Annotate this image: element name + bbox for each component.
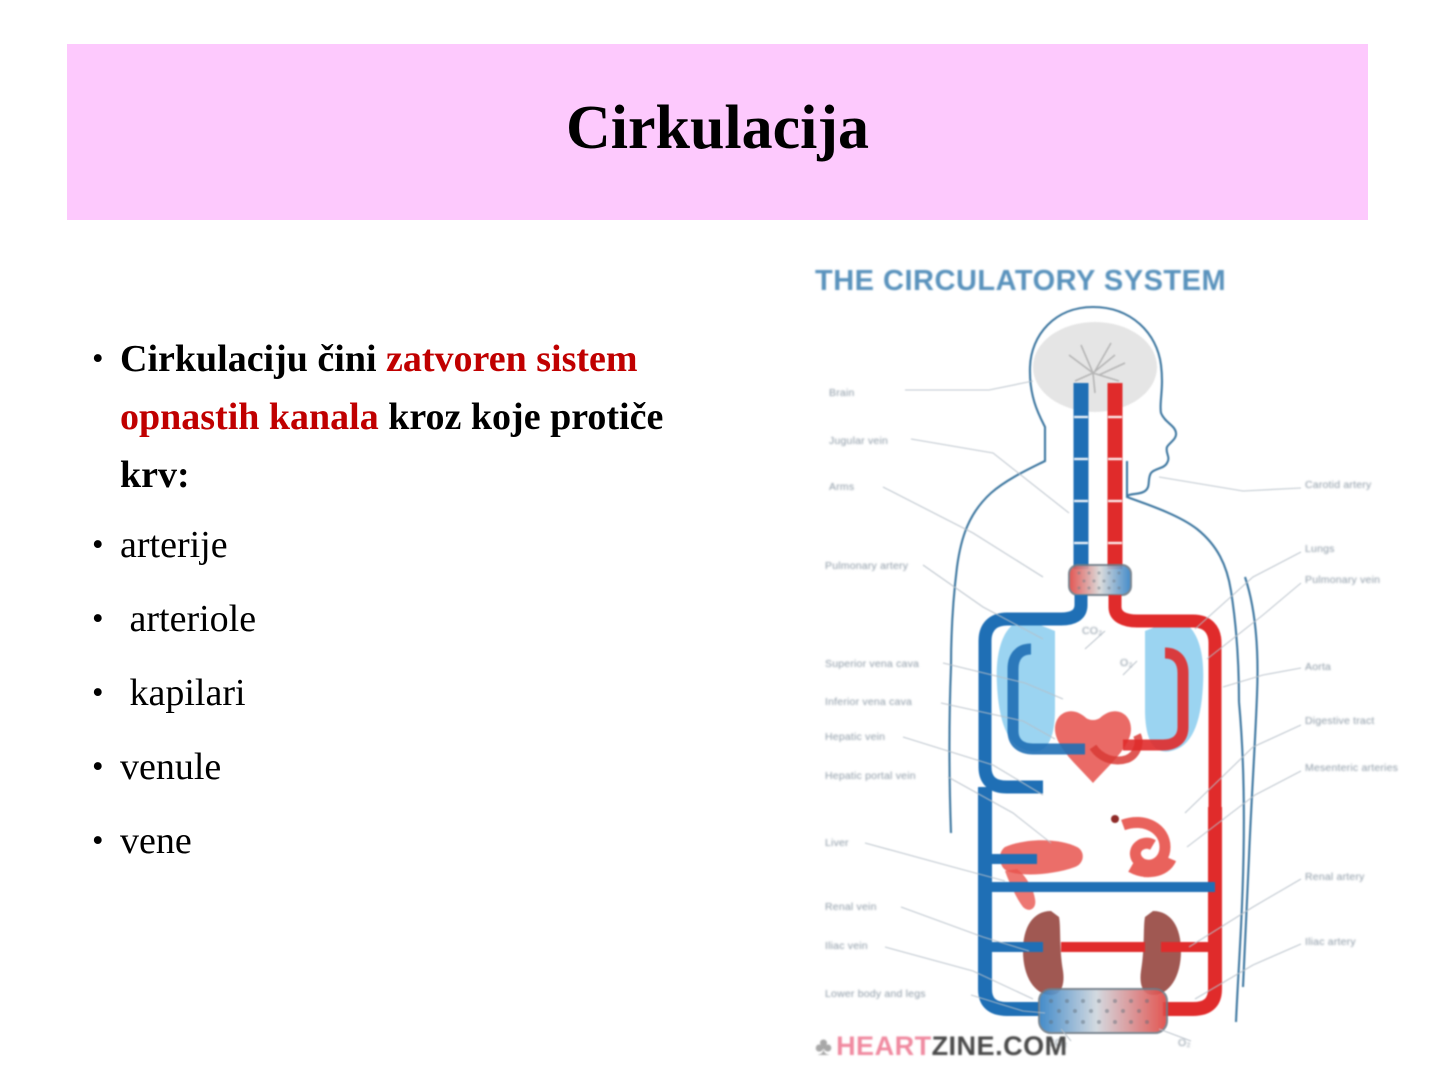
list-item-lead: • Cirkulaciju čini zatvoren sistem opnas… — [80, 330, 740, 504]
figure-label-superior-vena-cava: Superior vena cava — [825, 658, 919, 670]
bullet-list: • Cirkulaciju čini zatvoren sistem opnas… — [80, 330, 740, 874]
figure-label-pulmonary-artery: Pulmonary artery — [825, 560, 908, 572]
club-icon: ♣ — [815, 1034, 832, 1060]
list-item-venule: • venule — [80, 734, 740, 800]
page-title: Cirkulacija — [566, 97, 869, 159]
watermark-zine: ZINE.COM — [932, 1031, 1068, 1061]
figure-label-co2-lungs: CO₂ — [1082, 625, 1102, 637]
list-item-lead-text: Cirkulaciju čini zatvoren sistem opnasti… — [120, 330, 740, 504]
figure-label-renal-artery: Renal artery — [1305, 871, 1365, 883]
bullet-marker-icon: • — [80, 586, 120, 652]
list-item-label: arterije — [120, 512, 740, 578]
figure-label-pulmonary-vein: Pulmonary vein — [1305, 574, 1380, 586]
title-banner: Cirkulacija — [67, 44, 1368, 220]
figure-label-lower-body-and-legs: Lower body and legs — [825, 988, 926, 1000]
figure-label-aorta: Aorta — [1305, 661, 1331, 673]
watermark-heart: HEART — [836, 1031, 932, 1061]
figure-label-jugular-vein: Jugular vein — [829, 435, 888, 447]
figure-label-o2-body: O₂ — [1178, 1037, 1191, 1049]
figure-label-carotid-artery: Carotid artery — [1305, 479, 1371, 491]
bullet-marker-icon: • — [80, 512, 120, 578]
figure-label-iliac-artery: Iliac artery — [1305, 936, 1356, 948]
list-item-arteriole: • arteriole — [80, 586, 740, 652]
figure-label-digestive-tract: Digestive tract — [1305, 715, 1375, 727]
figure-label-iliac-vein: Iliac vein — [825, 940, 868, 952]
bullet-marker-icon: • — [80, 808, 120, 874]
figure-label-lungs: Lungs — [1305, 543, 1335, 555]
watermark: ♣ HEARTZINE.COM — [815, 1031, 1068, 1062]
list-item-label: vene — [120, 808, 740, 874]
list-item-kapilari: • kapilari — [80, 660, 740, 726]
figure-inner: THE CIRCULATORY SYSTEM — [793, 247, 1433, 1080]
list-item-label: arteriole — [120, 586, 740, 652]
bullet-marker-icon: • — [80, 660, 120, 726]
circulatory-system-figure: THE CIRCULATORY SYSTEM — [793, 247, 1433, 1080]
list-item-label: kapilari — [120, 660, 740, 726]
figure-label-renal-vein: Renal vein — [825, 901, 877, 913]
figure-label-o2-lungs: O₂ — [1120, 657, 1133, 669]
list-item-vene: • vene — [80, 808, 740, 874]
figure-label-hepatic-portal-vein: Hepatic portal vein — [825, 770, 916, 782]
figure-label-mesenteric-arteries: Mesenteric arteries — [1305, 762, 1398, 774]
figure-label-liver: Liver — [825, 837, 849, 849]
slide-canvas: Cirkulacija • Cirkulaciju čini zatvoren … — [0, 0, 1440, 1080]
figure-label-brain: Brain — [829, 387, 855, 399]
watermark-text: HEARTZINE.COM — [836, 1031, 1068, 1062]
figure-label-inferior-vena-cava: Inferior vena cava — [825, 696, 912, 708]
bullet-marker-icon: • — [80, 734, 120, 800]
lead-text-part1: Cirkulaciju čini — [120, 338, 386, 380]
figure-label-hepatic-vein: Hepatic vein — [825, 731, 885, 743]
bullet-marker-icon: • — [80, 330, 120, 388]
figure-label-arms: Arms — [829, 481, 854, 493]
list-item-label: venule — [120, 734, 740, 800]
list-item-arterije: • arterije — [80, 512, 740, 578]
